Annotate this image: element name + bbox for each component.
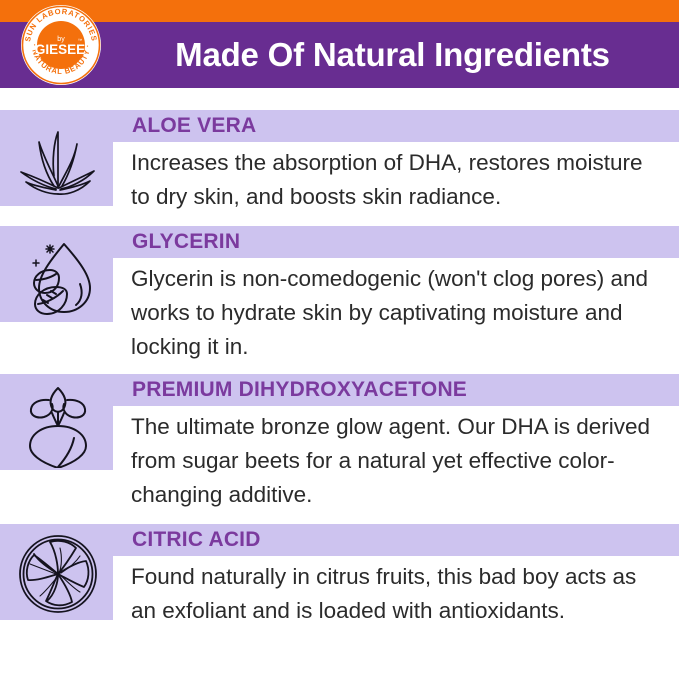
ingredient-section-glycerin: GLYCERIN Glycerin is non-comedogenic (wo… [0, 226, 679, 356]
icon-column [0, 524, 113, 620]
aloe-vera-icon [14, 116, 102, 204]
logo-brand-text: GIESEE [35, 42, 85, 57]
icon-column [0, 226, 113, 322]
ingredient-section-dha: PREMIUM DIHYDROXYACETONE The ultimate br… [0, 374, 679, 504]
ingredient-section-aloe-vera: ALOE VERA Increases the absorption of DH… [0, 110, 679, 206]
icon-column [0, 110, 113, 206]
ingredient-heading: GLYCERIN [132, 226, 240, 258]
ingredient-heading: CITRIC ACID [132, 524, 261, 556]
page-title: Made Of Natural Ingredients [120, 22, 665, 88]
ingredient-body: The ultimate bronze glow agent. Our DHA … [131, 410, 665, 512]
brand-logo: SUN LABORATORIES · NATURAL BEAUTY · by G… [20, 4, 102, 86]
icon-column [0, 374, 113, 470]
ingredient-body: Found naturally in citrus fruits, this b… [131, 560, 665, 628]
ingredient-section-citric-acid: CITRIC ACID Found naturally in citrus fr… [0, 524, 679, 654]
ingredient-body: Increases the absorption of DHA, restore… [131, 146, 665, 214]
ingredient-heading: PREMIUM DIHYDROXYACETONE [132, 374, 467, 406]
citrus-slice-icon [14, 530, 102, 618]
ingredient-body: Glycerin is non-comedogenic (won't clog … [131, 262, 665, 364]
infographic-page: SUN LABORATORIES · NATURAL BEAUTY · by G… [0, 0, 679, 679]
ingredient-heading: ALOE VERA [132, 110, 256, 142]
logo-trademark: ™ [78, 38, 83, 43]
sugar-beet-icon [14, 380, 102, 468]
glycerin-droplet-icon [14, 232, 102, 320]
